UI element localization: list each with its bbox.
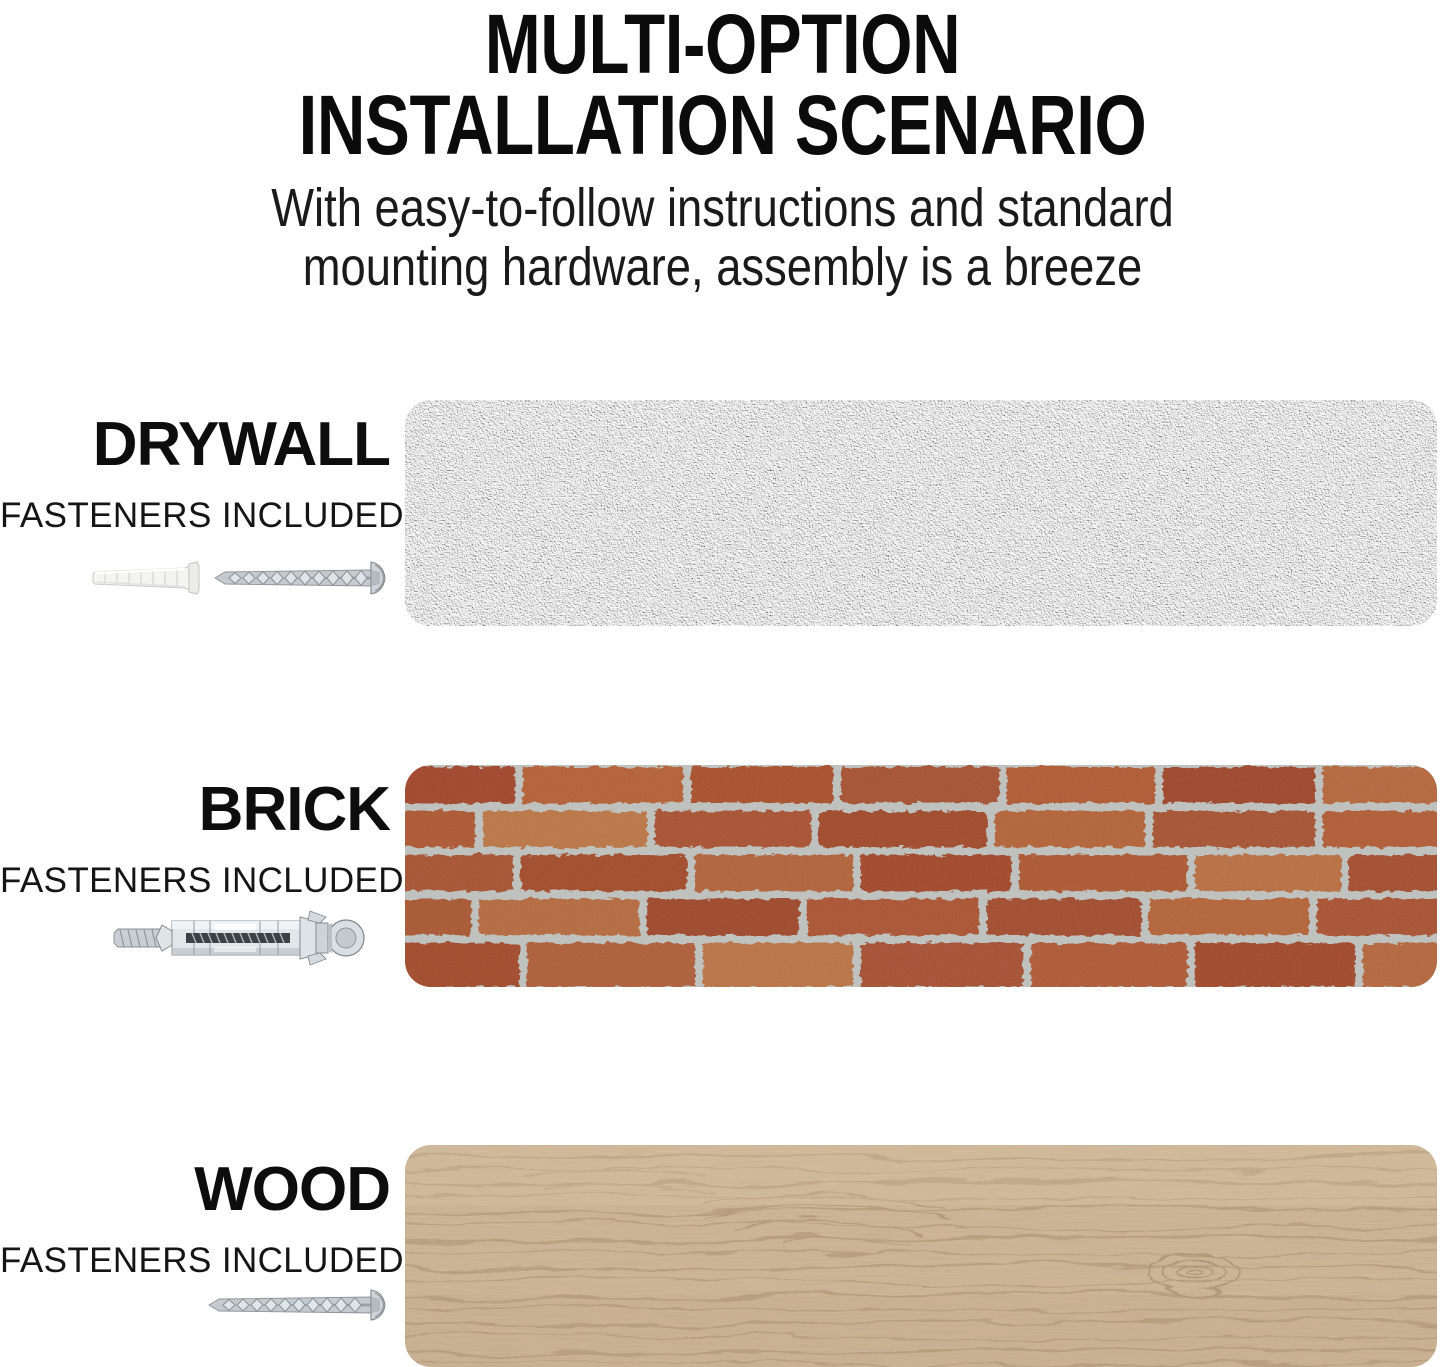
material-name-drywall: DRYWALL bbox=[0, 392, 390, 476]
brick-fasteners-illustration bbox=[110, 907, 395, 969]
header-block: MULTI-OPTION INSTALLATION SCENARIO With … bbox=[0, 0, 1445, 296]
brick-swatch bbox=[405, 765, 1437, 987]
wood-fasteners-illustration bbox=[205, 1285, 395, 1325]
plastic-wall-anchor-icon bbox=[93, 562, 199, 594]
material-row-brick: BRICK FASTENERS INCLUDED bbox=[0, 757, 1445, 989]
wood-grain-texture bbox=[405, 1145, 1437, 1367]
fasteners-included-label-brick: FASTENERS INCLUDED bbox=[0, 841, 390, 898]
wood-screw-icon bbox=[215, 562, 385, 594]
page-title: MULTI-OPTION INSTALLATION SCENARIO bbox=[145, 0, 1301, 165]
wood-fastener-group bbox=[0, 1285, 395, 1330]
page-subtitle: With easy-to-follow instructions and sta… bbox=[116, 165, 1330, 296]
drywall-swatch bbox=[405, 400, 1437, 626]
wood-screw-icon bbox=[209, 1290, 385, 1320]
fasteners-included-label-drywall: FASTENERS INCLUDED bbox=[0, 476, 390, 533]
infographic-page: MULTI-OPTION INSTALLATION SCENARIO With … bbox=[0, 0, 1445, 1367]
drywall-fasteners-illustration bbox=[85, 552, 395, 604]
drywall-labels: DRYWALL FASTENERS INCLUDED bbox=[0, 392, 390, 533]
material-name-brick: BRICK bbox=[0, 757, 390, 841]
hollow-wall-molly-anchor-icon bbox=[114, 911, 364, 965]
title-line-2: INSTALLATION SCENARIO bbox=[145, 85, 1301, 166]
wood-labels: WOOD FASTENERS INCLUDED bbox=[0, 1137, 390, 1278]
subtitle-line-1: With easy-to-follow instructions and sta… bbox=[271, 178, 1174, 238]
material-row-wood: WOOD FASTENERS INCLUDED bbox=[0, 1137, 1445, 1367]
fasteners-included-label-wood: FASTENERS INCLUDED bbox=[0, 1221, 390, 1278]
brick-labels: BRICK FASTENERS INCLUDED bbox=[0, 757, 390, 898]
brick-fastener-group bbox=[0, 907, 395, 974]
stucco-texture bbox=[405, 400, 1437, 626]
material-name-wood: WOOD bbox=[0, 1137, 390, 1221]
subtitle-line-2: mounting hardware, assembly is a breeze bbox=[116, 238, 1330, 296]
drywall-fastener-group bbox=[0, 552, 395, 609]
brick-texture bbox=[405, 765, 1437, 987]
material-row-drywall: DRYWALL FASTENERS INCLUDED bbox=[0, 392, 1445, 624]
wood-swatch bbox=[405, 1145, 1437, 1367]
